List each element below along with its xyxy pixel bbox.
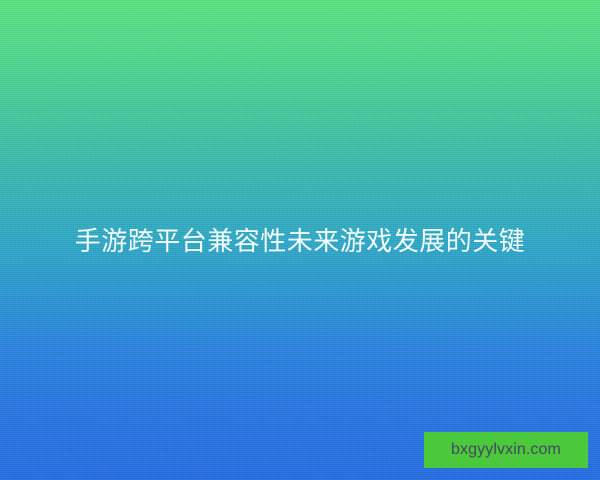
watermark-badge-label: bxgyylvxin.com [451, 442, 561, 458]
watermark-badge: bxgyylvxin.com [424, 432, 588, 468]
banner-image: 手游跨平台兼容性未来游戏发展的关键 bxgyylvxin.com [0, 0, 600, 480]
page-title: 手游跨平台兼容性未来游戏发展的关键 [0, 225, 600, 259]
